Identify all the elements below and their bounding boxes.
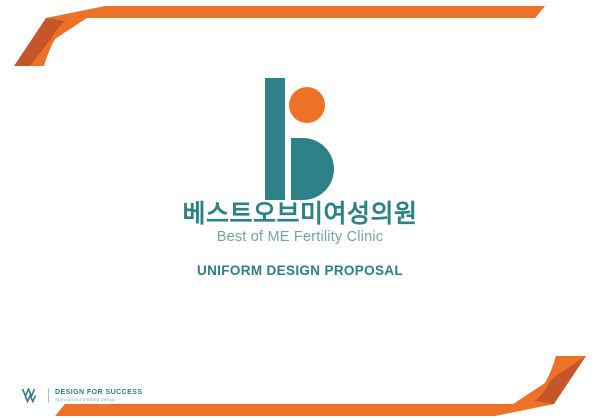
footer-credit: DESIGN FOR SUCCESS Specialized bidding d… (22, 388, 142, 403)
brand-name-english: Best of ME Fertility Clinic (0, 230, 600, 246)
bottom-right-orange-ribbon-fold (520, 356, 586, 404)
stylized-letter-b-logo (257, 78, 343, 200)
title-slide: 베스트오브미여성의원 Best of ME Fertility Clinic U… (0, 0, 600, 420)
bottom-right-orange-ribbon (55, 356, 586, 416)
brand-logo-block: 베스트오브미여성의원 Best of ME Fertility Clinic (0, 78, 600, 245)
logo-stem (265, 78, 285, 200)
proposal-title: UNIFORM DESIGN PROPOSAL (0, 263, 600, 278)
top-left-orange-ribbon-fold (14, 18, 80, 66)
bottom-right-orange-ribbon-body (166, 356, 570, 416)
brand-name-korean: 베스트오브미여성의원 (0, 200, 600, 228)
logo-orange-dot (289, 87, 325, 123)
top-left-orange-ribbon (14, 6, 545, 66)
w-monogram-icon (22, 388, 42, 403)
top-left-orange-ribbon-body (30, 6, 545, 66)
footer-divider (48, 388, 49, 403)
logo-bowl (291, 138, 334, 200)
footer-title: DESIGN FOR SUCCESS (55, 389, 142, 396)
footer-subtitle: Specialized bidding design (55, 398, 142, 403)
footer-text-group: DESIGN FOR SUCCESS Specialized bidding d… (55, 389, 142, 403)
